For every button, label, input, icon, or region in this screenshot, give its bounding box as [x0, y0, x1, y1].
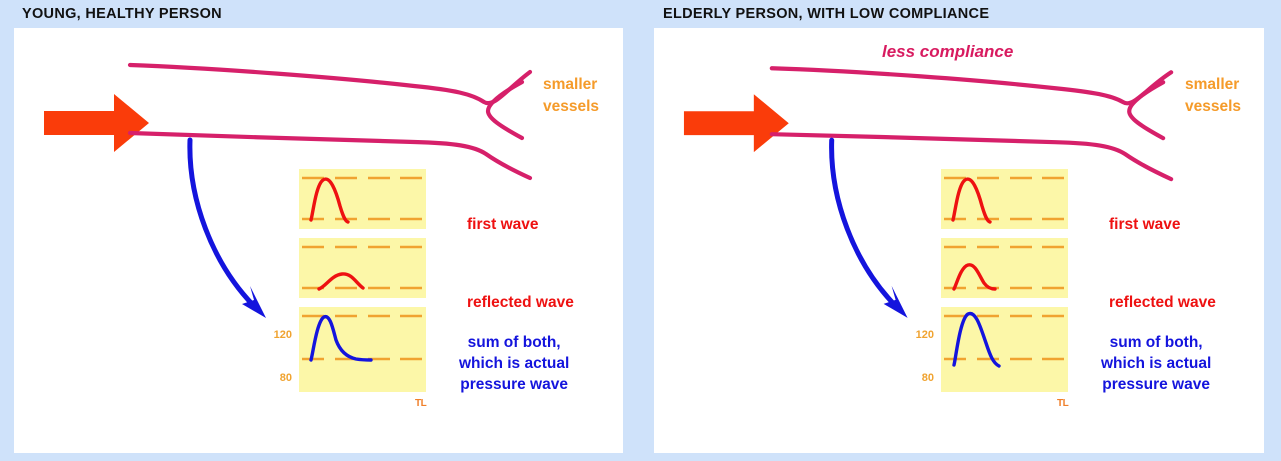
axis-label-80-elderly: 80: [900, 372, 934, 384]
pressure-wave-reflection-figure: YOUNG, HEALTHY PERSON: [0, 0, 1281, 461]
axis-label-120-elderly: 120: [900, 329, 934, 341]
first-wave-curve-elderly: [953, 179, 990, 222]
less-compliance-label: less compliance: [882, 42, 1013, 62]
watermark-elderly: TL: [1057, 398, 1068, 409]
wave-charts-young: 120 80 TL first wave reflected wave sum …: [299, 169, 559, 429]
smaller-vessels-line1: smaller: [1185, 74, 1241, 96]
reflection-arrow-icon: [832, 140, 908, 318]
chart-sum-wave-svg-young: [299, 307, 426, 392]
chart-sum-wave-elderly: [941, 307, 1068, 392]
panel-card-elderly: less compliance smaller vessels: [654, 28, 1264, 453]
chart-first-wave-elderly: [941, 169, 1068, 229]
label-sum-line1: sum of both,: [1101, 333, 1211, 354]
reflected-wave-curve-elderly: [954, 265, 995, 289]
label-sum-wave-young: sum of both, which is actual pressure wa…: [459, 333, 569, 396]
chart-first-wave-young: [299, 169, 426, 229]
gridlines: [302, 247, 422, 288]
inflow-arrow-icon: [684, 94, 789, 152]
label-reflected-wave-young: reflected wave: [467, 293, 574, 314]
axis-label-80-young: 80: [258, 372, 292, 384]
label-sum-line2: which is actual: [459, 354, 569, 375]
label-sum-wave-elderly: sum of both, which is actual pressure wa…: [1101, 333, 1211, 396]
chart-sum-wave-young: [299, 307, 426, 392]
reflection-arrow-icon: [190, 140, 266, 318]
axis-label-120-young: 120: [258, 329, 292, 341]
inflow-arrow-icon: [44, 94, 149, 152]
label-sum-line3: pressure wave: [1101, 375, 1211, 396]
label-reflected-wave-elderly: reflected wave: [1109, 293, 1216, 314]
smaller-vessels-line2: vessels: [543, 96, 599, 118]
panel-card-young: smaller vessels: [14, 28, 623, 453]
label-sum-line3: pressure wave: [459, 375, 569, 396]
chart-reflected-wave-svg-young: [299, 238, 426, 298]
panel-elderly-low-compliance: ELDERLY PERSON, WITH LOW COMPLIANCE less…: [641, 0, 1281, 461]
panel-young-healthy-person: YOUNG, HEALTHY PERSON: [0, 0, 640, 461]
sum-wave-curve-young: [311, 317, 371, 360]
chart-reflected-wave-svg-elderly: [941, 238, 1068, 298]
chart-reflected-wave-young: [299, 238, 426, 298]
label-sum-line1: sum of both,: [459, 333, 569, 354]
chart-sum-wave-svg-elderly: [941, 307, 1068, 392]
smaller-vessels-line1: smaller: [543, 74, 599, 96]
first-wave-curve-young: [311, 179, 348, 222]
panel-title-elderly: ELDERLY PERSON, WITH LOW COMPLIANCE: [663, 6, 989, 22]
label-first-wave-elderly: first wave: [1109, 215, 1181, 236]
chart-first-wave-svg-elderly: [941, 169, 1068, 229]
watermark-young: TL: [415, 398, 426, 409]
smaller-vessels-label-elderly: smaller vessels: [1185, 74, 1241, 118]
smaller-vessels-line2: vessels: [1185, 96, 1241, 118]
chart-reflected-wave-elderly: [941, 238, 1068, 298]
smaller-vessels-label-young: smaller vessels: [543, 74, 599, 118]
gridlines: [944, 247, 1064, 288]
wave-charts-elderly: 120 80 TL first wave reflected wave sum …: [941, 169, 1201, 429]
panel-title-young: YOUNG, HEALTHY PERSON: [22, 6, 222, 22]
label-first-wave-young: first wave: [467, 215, 539, 236]
label-sum-line2: which is actual: [1101, 354, 1211, 375]
chart-first-wave-svg-young: [299, 169, 426, 229]
